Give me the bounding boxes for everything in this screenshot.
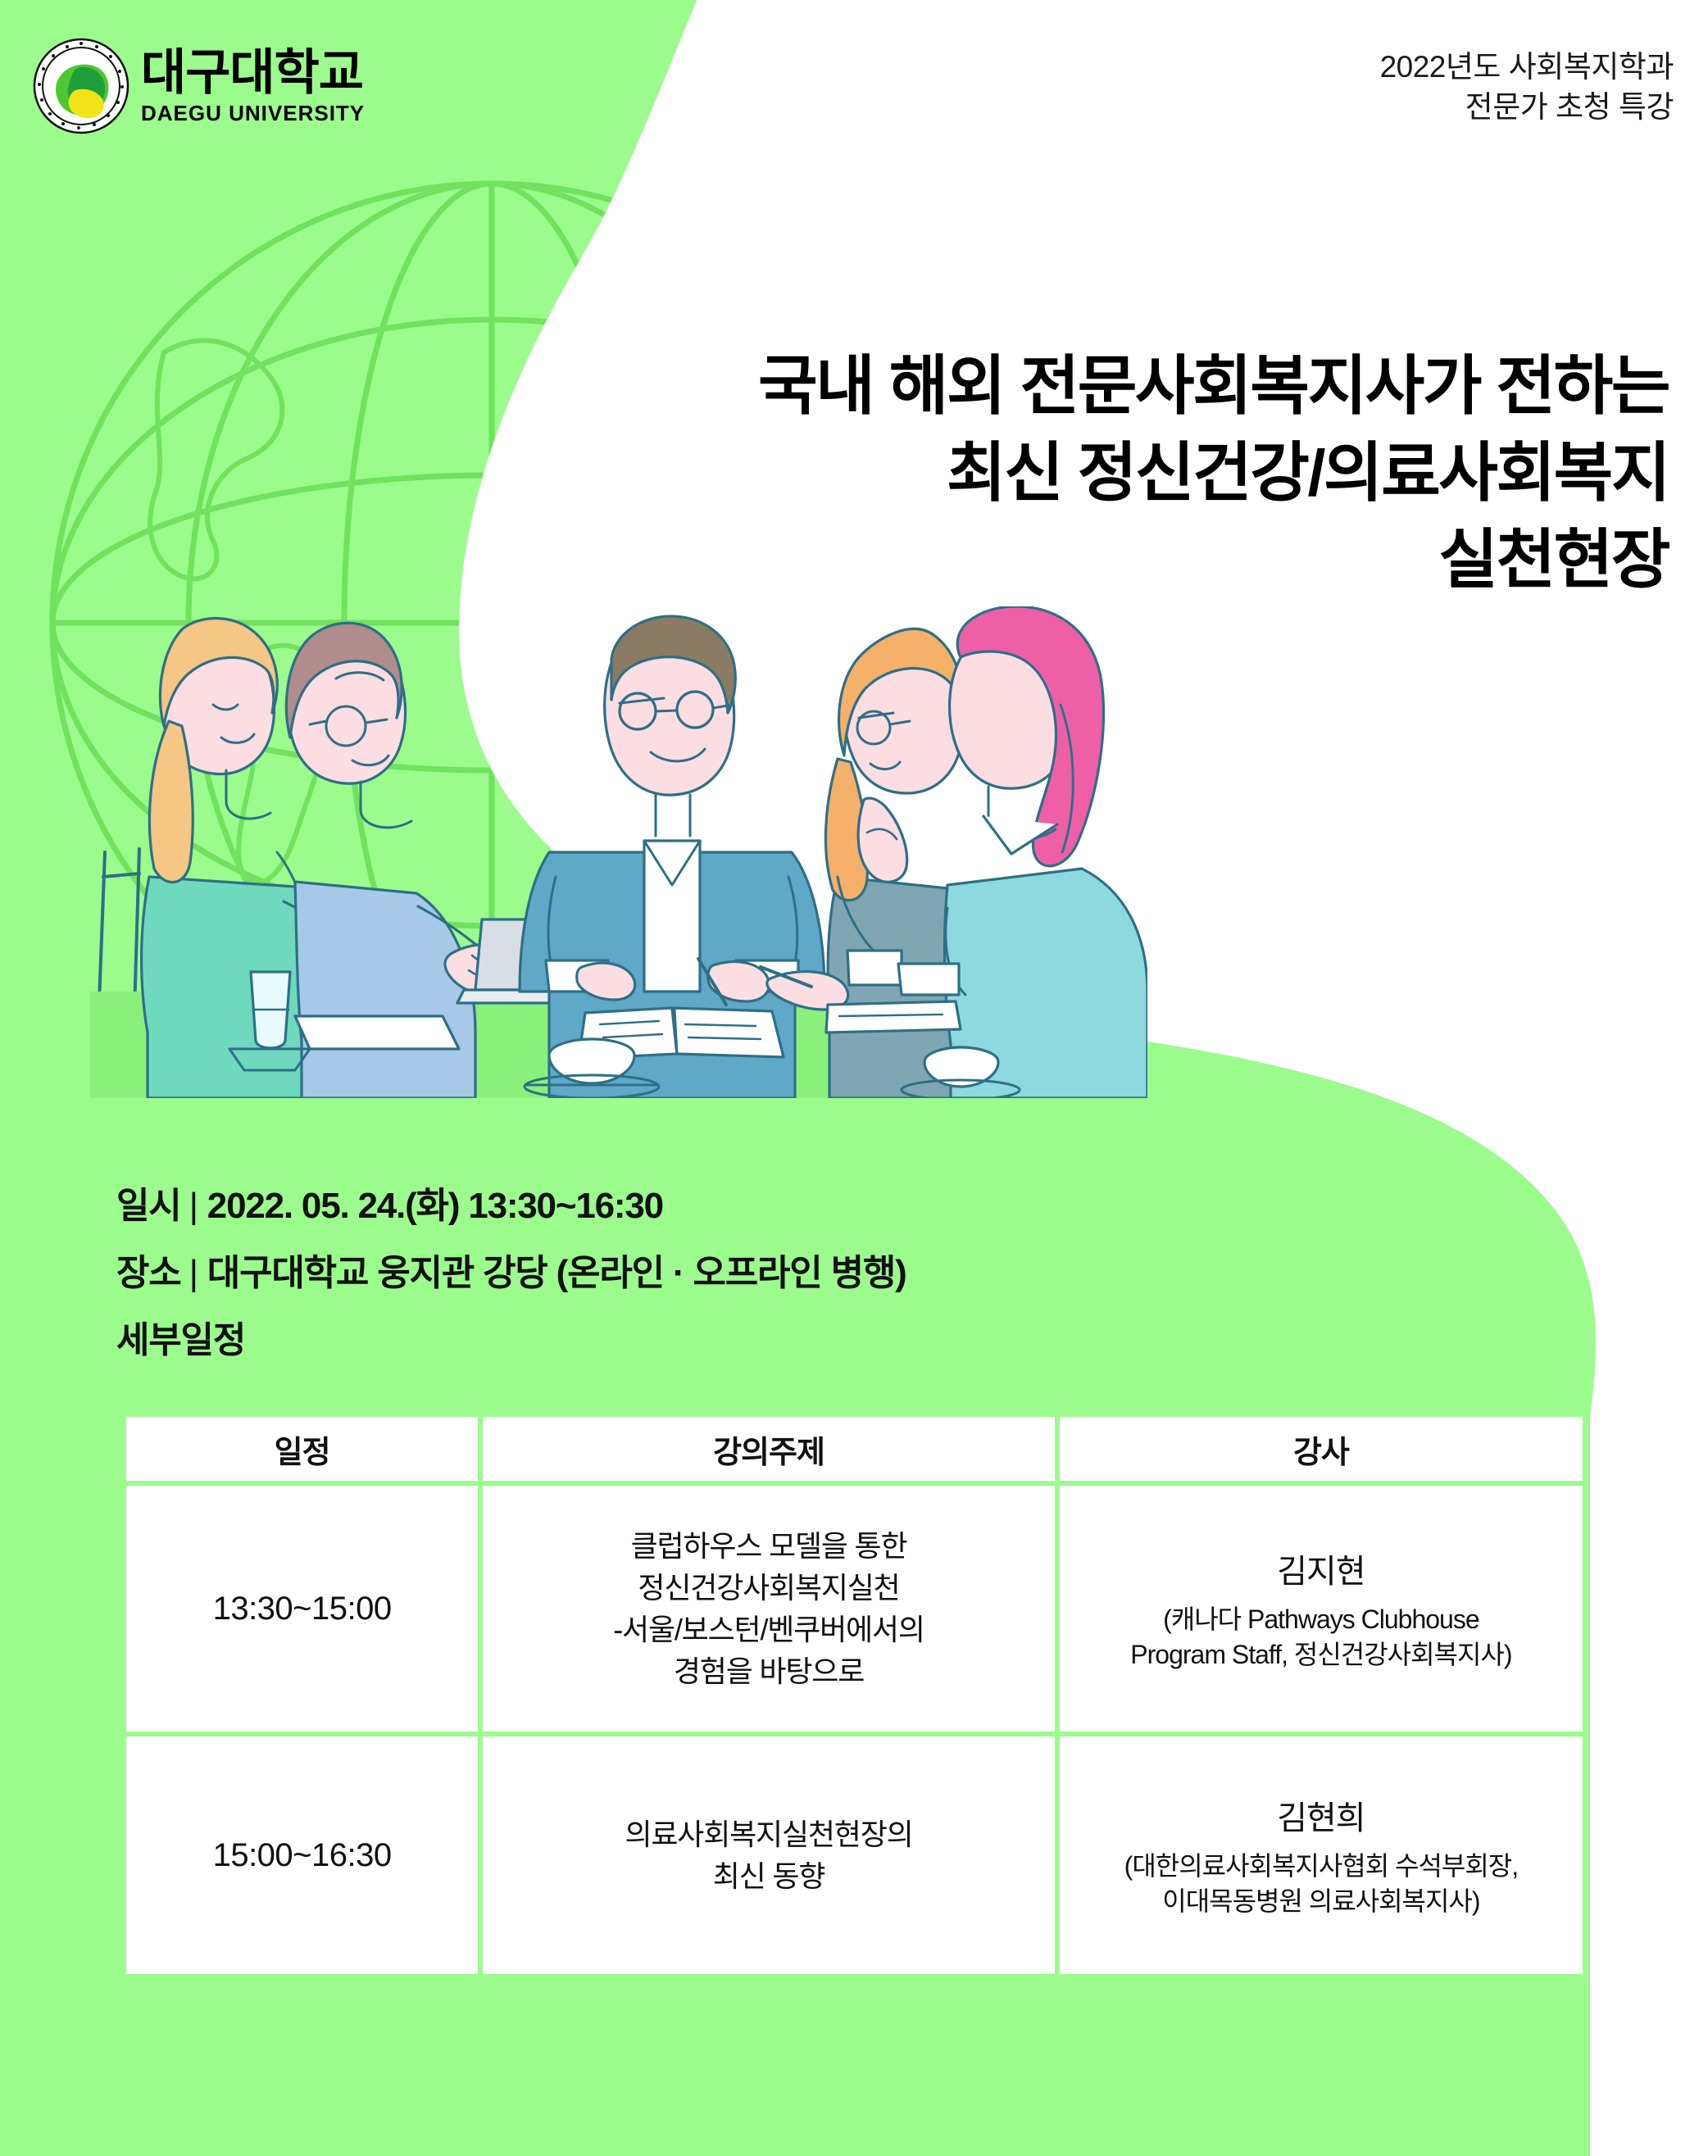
table-header-row: 일정 강의주제 강사: [126, 1417, 1583, 1481]
row1-topic-line4: 경험을 바탕으로: [483, 1650, 1055, 1692]
row1-topic: 클럽하우스 모델을 통한 정신건강사회복지실천 -서울/보스턴/벤쿠버에서의 경…: [483, 1486, 1055, 1732]
column-header-lecturer: 강사: [1060, 1417, 1583, 1481]
event-date-label: 일시: [116, 1186, 181, 1226]
event-place-label: 장소: [116, 1253, 181, 1293]
poster-root: 대구대학교 DAEGU UNIVERSITY 2022년도 사회복지학과 전문가…: [0, 0, 1708, 2156]
header-note-line1: 2022년도 사회복지학과: [1380, 48, 1674, 88]
header-note-line2: 전문가 초청 특강: [1380, 88, 1674, 128]
row2-time: 15:00~16:30: [126, 1736, 478, 1974]
row1-lecturer-name: 김지현: [1060, 1545, 1583, 1592]
row1-topic-line2: 정신건강사회복지실천: [483, 1567, 1055, 1609]
event-date-separator: |: [181, 1186, 207, 1226]
event-place-line: 장소|대구대학교 웅지관 강당 (온라인 · 오프라인 병행): [116, 1255, 906, 1291]
event-info: 일시|2022. 05. 24.(화) 13:30~16:30 장소|대구대학교…: [116, 1188, 906, 1359]
university-logo: 대구대학교 DAEGU UNIVERSITY: [33, 38, 365, 134]
row2-lecturer: 김현희 (대한의료사회복지사협회 수석부회장, 이대목동병원 의료사회복지사): [1060, 1736, 1583, 1974]
title-line-3: 실천현장: [439, 516, 1669, 603]
row1-lecturer-affiliation-line1: (캐나다 Pathways Clubhouse: [1060, 1602, 1583, 1637]
schedule-section-label: 세부일정: [116, 1323, 906, 1359]
row2-topic-line2: 최신 동향: [483, 1855, 1055, 1897]
page-title: 국내 해외 전문사회복지사가 전하는 최신 정신건강/의료사회복지 실천현장: [439, 343, 1669, 603]
event-date-line: 일시|2022. 05. 24.(화) 13:30~16:30: [116, 1188, 906, 1224]
row1-topic-line3: -서울/보스턴/벤쿠버에서의: [483, 1609, 1055, 1650]
row2-topic-line1: 의료사회복지실천현장의: [483, 1813, 1055, 1855]
table-row: 15:00~16:30 의료사회복지실천현장의 최신 동향 김현희 (대한의료사…: [126, 1736, 1583, 1974]
schedule-table: 일정 강의주제 강사 13:30~15:00 클럽하우스 모델을 통한 정신건강…: [121, 1412, 1588, 1979]
meeting-illustration: [90, 606, 1147, 1098]
title-line-1: 국내 해외 전문사회복지사가 전하는: [439, 343, 1669, 429]
row2-lecturer-affiliation-line1: (대한의료사회복지사협회 수석부회장,: [1060, 1849, 1583, 1884]
daegu-university-emblem-icon: [33, 38, 129, 134]
table-row: 13:30~15:00 클럽하우스 모델을 통한 정신건강사회복지실천 -서울/…: [126, 1486, 1583, 1732]
event-date-value: 2022. 05. 24.(화) 13:30~16:30: [207, 1186, 663, 1226]
row1-lecturer: 김지현 (캐나다 Pathways Clubhouse Program Staf…: [1060, 1486, 1583, 1732]
row2-lecturer-name: 김현희: [1060, 1791, 1583, 1839]
row1-topic-line1: 클럽하우스 모델을 통한: [483, 1525, 1055, 1567]
logo-english-name: DAEGU UNIVERSITY: [141, 102, 365, 124]
row2-lecturer-affiliation-line2: 이대목동병원 의료사회복지사): [1060, 1884, 1583, 1919]
column-header-topic: 강의주제: [483, 1417, 1055, 1481]
row1-lecturer-affiliation-line2: Program Staff, 정신건강사회복지사): [1060, 1637, 1583, 1673]
event-place-value: 대구대학교 웅지관 강당 (온라인 · 오프라인 병행): [207, 1253, 906, 1293]
row2-topic: 의료사회복지실천현장의 최신 동향: [483, 1736, 1055, 1974]
logo-korean-name: 대구대학교: [141, 48, 365, 98]
column-header-time: 일정: [126, 1417, 478, 1481]
title-line-2: 최신 정신건강/의료사회복지: [439, 429, 1669, 516]
logo-wordmark: 대구대학교 DAEGU UNIVERSITY: [141, 48, 365, 124]
header-program-note: 2022년도 사회복지학과 전문가 초청 특강: [1380, 48, 1674, 128]
event-place-separator: |: [181, 1253, 207, 1293]
row1-time: 13:30~15:00: [126, 1486, 478, 1732]
